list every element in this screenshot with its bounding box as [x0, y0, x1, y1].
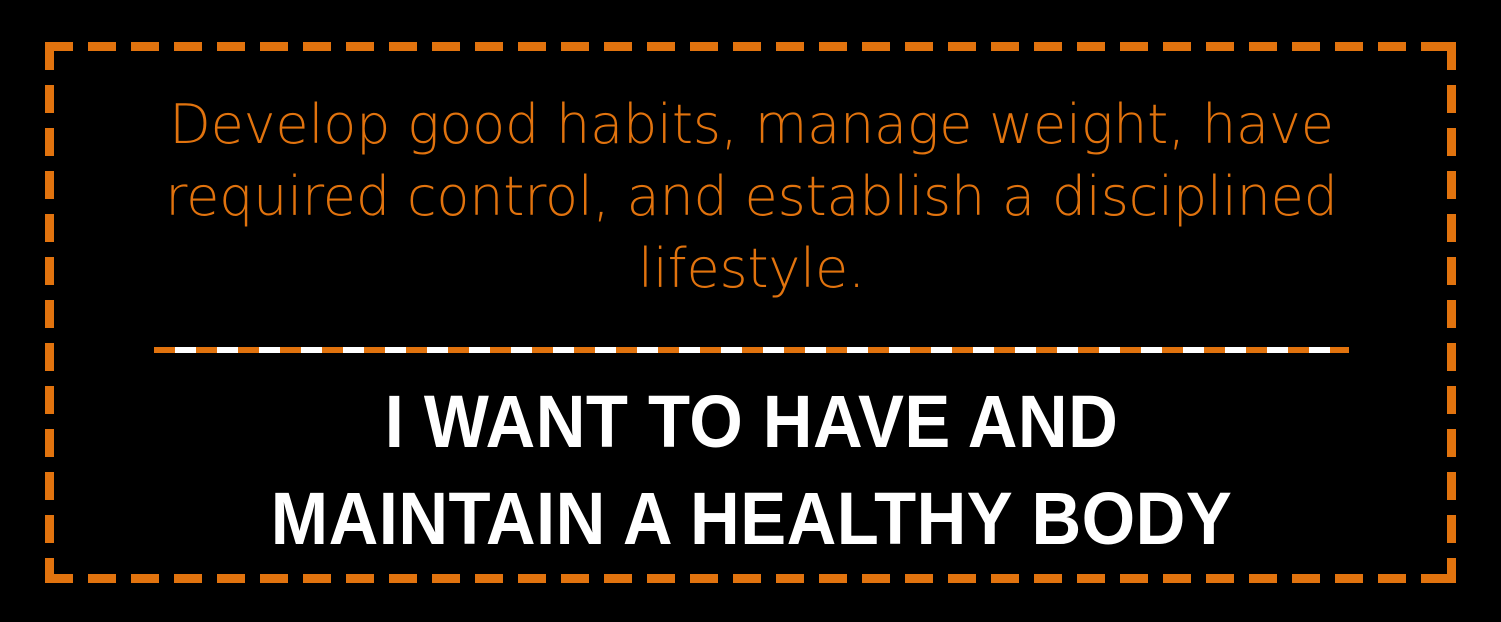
headline-line-2: MAINTAIN A HEALTHY BODY	[140, 470, 1363, 567]
headline-line-1: I WANT TO HAVE AND	[140, 373, 1363, 470]
goal-statement-card: Develop good habits, manage weight, have…	[0, 0, 1501, 622]
goal-headline: I WANT TO HAVE AND MAINTAIN A HEALTHY BO…	[140, 373, 1363, 567]
frame-bottom-edge	[45, 574, 1456, 583]
frame-left-edge	[45, 42, 54, 583]
description-line-1: Develop good habits, manage weight,	[169, 93, 1185, 156]
section-divider	[154, 347, 1349, 353]
description-paragraph: Develop good habits, manage weight, have…	[154, 89, 1349, 305]
frame-top-edge	[45, 42, 1456, 51]
divider-dashes	[154, 347, 1349, 353]
card-content: Develop good habits, manage weight, have…	[54, 51, 1447, 574]
frame-right-edge	[1447, 42, 1456, 583]
